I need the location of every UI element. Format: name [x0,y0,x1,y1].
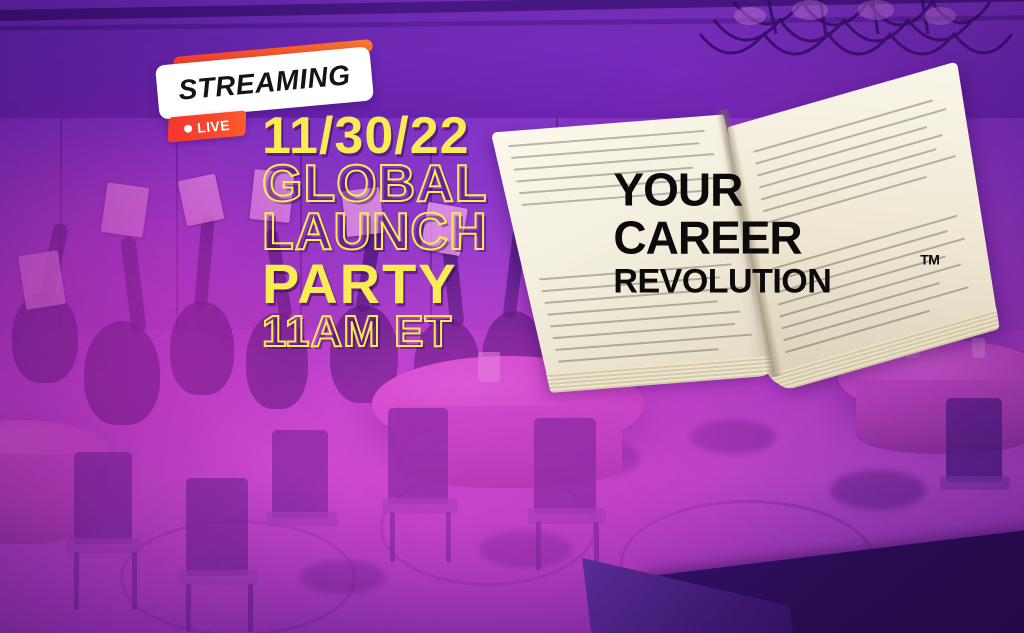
live-label: LIVE [196,116,230,135]
live-dot-icon [184,124,193,133]
promo-banner: STREAMING LIVE 11/30/22 GLOBAL LAUNCH PA… [0,0,1024,633]
book-title-line-2: CAREER [613,214,913,260]
trademark-symbol: TM [920,252,939,266]
book-title: YOUR CAREER REVOLUTION TM [613,166,913,298]
event-time: 11AM ET [262,311,542,353]
book-title-line-1: YOUR [613,166,913,212]
book-title-line-3: REVOLUTION TM [613,264,913,298]
event-word-launch: LAUNCH [262,208,542,258]
event-word-party: PARTY [262,257,542,311]
book-title-line-3-text: REVOLUTION [613,262,831,300]
